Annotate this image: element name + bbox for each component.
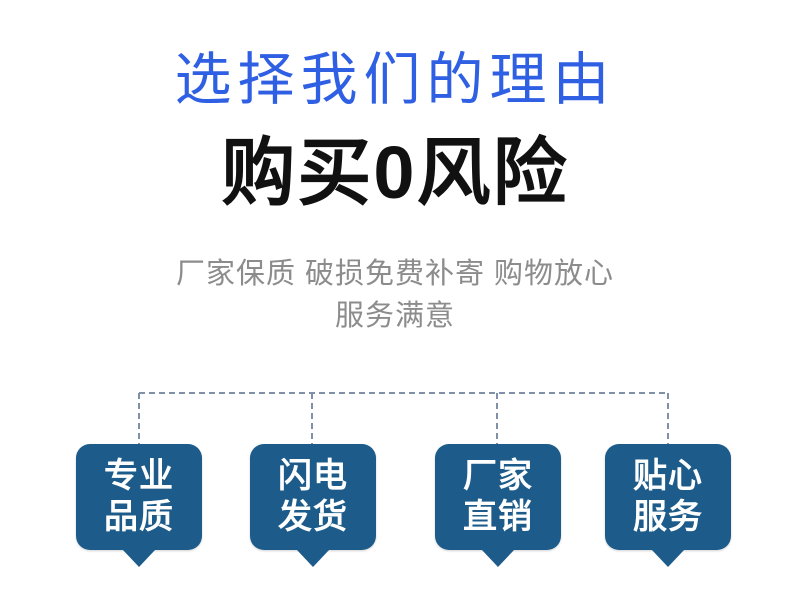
feature-card-row: 专业 品质 闪电 发货 厂家 直销 贴心 服务	[0, 444, 790, 574]
callout-tail-icon	[296, 549, 330, 567]
subtitle-line-1: 厂家保质 破损免费补寄 购物放心	[0, 253, 790, 295]
feature-card-caring-service[interactable]: 贴心 服务	[605, 444, 731, 550]
callout-tail-icon	[651, 549, 685, 567]
feature-card-factory-direct[interactable]: 厂家 直销	[435, 444, 561, 550]
subtitle-block: 厂家保质 破损免费补寄 购物放心 服务满意	[0, 253, 790, 337]
feature-card-factory-direct-line1: 厂家	[463, 456, 533, 497]
feature-card-quality[interactable]: 专业 品质	[76, 444, 202, 550]
promo-banner: 选择我们的理由 购买0风险 厂家保质 破损免费补寄 购物放心 服务满意 专业 品…	[0, 0, 790, 614]
feature-card-fast-shipping-line2: 发货	[278, 497, 348, 538]
subtitle-line-2: 服务满意	[0, 295, 790, 337]
eyebrow-heading: 选择我们的理由	[0, 48, 790, 112]
feature-card-factory-direct-line2: 直销	[463, 497, 533, 538]
feature-card-quality-line2: 品质	[104, 497, 174, 538]
callout-tail-icon	[122, 549, 156, 567]
callout-tail-icon	[481, 549, 515, 567]
feature-card-fast-shipping-line1: 闪电	[278, 456, 348, 497]
page-title: 购买0风险	[0, 131, 790, 215]
feature-card-caring-service-line2: 服务	[633, 497, 703, 538]
feature-card-caring-service-line1: 贴心	[633, 456, 703, 497]
feature-card-quality-line1: 专业	[104, 456, 174, 497]
feature-card-fast-shipping[interactable]: 闪电 发货	[250, 444, 376, 550]
